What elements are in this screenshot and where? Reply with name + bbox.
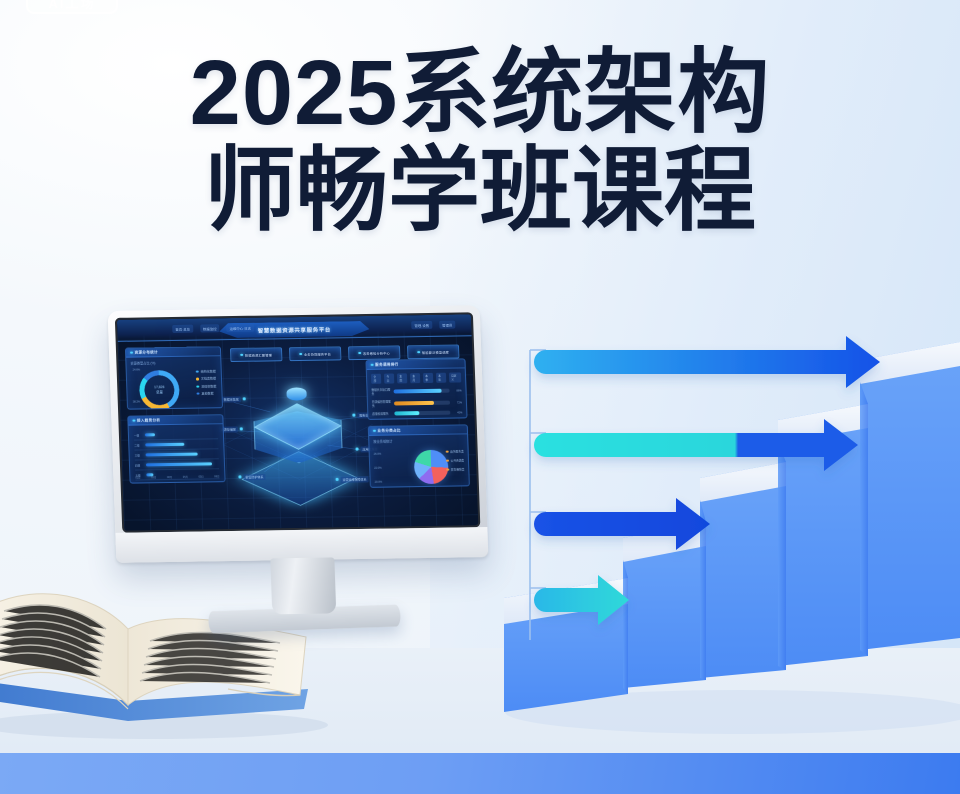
- nav-item-2[interactable]: 运维中心·日志: [226, 324, 254, 332]
- iso-node-label: 运营运维保障体系: [340, 476, 368, 482]
- bullet-icon: [240, 354, 243, 357]
- nav-settings[interactable]: 管理·设置: [411, 321, 432, 329]
- legend-item-1: 文档类数据: [196, 377, 216, 381]
- nav-admin[interactable]: 管理员: [439, 321, 455, 329]
- node-dot-icon: [240, 428, 243, 431]
- horizontal-bar-chart: 一级 二级 三级 四级 五级: [134, 429, 219, 470]
- progress-label: 质量核验服务: [372, 412, 391, 416]
- progress-label: 目录编目管理服务: [372, 400, 391, 408]
- iso-building-cap: [286, 387, 306, 400]
- legend-swatch: [446, 450, 449, 453]
- panel-dot-icon: [371, 364, 374, 367]
- legend-label: 公共资源类: [451, 458, 465, 462]
- iso-node-0: 数据采集层: [222, 396, 246, 402]
- staircase-chart: [490, 320, 960, 740]
- action-card-label: 智能算法模型调度: [422, 349, 449, 354]
- progress-track: [394, 389, 450, 394]
- progress-track: [394, 401, 450, 406]
- panel-title: 服务调用排行: [375, 362, 399, 367]
- action-card-3[interactable]: 智能算法模型调度: [407, 344, 459, 359]
- bar-label: 三级: [135, 453, 143, 457]
- desktop-monitor: 智慧数据资源共享服务平台 首页·总览 数据监控 运维中心·日志 管理·设置 管理…: [108, 305, 489, 563]
- dashboard: 智慧数据资源共享服务平台 首页·总览 数据监控 运维中心·日志 管理·设置 管理…: [117, 314, 478, 530]
- action-card-label: 业务协同服务平台: [304, 351, 331, 356]
- x-tick: 04月: [183, 475, 188, 479]
- panel-title: 业务分类占比: [377, 428, 401, 433]
- iso-node-label: 安全防护体系: [243, 474, 265, 480]
- panel-subtitle: 资源类型占比 (%): [126, 356, 220, 366]
- legend-swatch: [197, 392, 200, 395]
- x-tick: 06月: [214, 474, 219, 478]
- legend-label: 流媒体数据: [201, 384, 216, 388]
- donut-center: 17,826 总量: [139, 370, 180, 410]
- bullet-icon: [299, 353, 302, 356]
- progress-label: 数据共享接口服务: [371, 388, 390, 396]
- legend-swatch: [197, 385, 200, 388]
- bar-label: 一级: [134, 433, 142, 437]
- x-tick: 03月: [167, 475, 172, 479]
- panel-dot-icon: [373, 430, 376, 433]
- dashboard-nav-left[interactable]: 首页·总览 数据监控 运维中心·日志: [172, 324, 254, 333]
- panel-dot-icon: [132, 419, 135, 422]
- legend-swatch: [196, 378, 199, 381]
- bar-fill: [146, 462, 212, 466]
- panel-subtitle: 按业务域统计: [369, 434, 467, 445]
- staircase-svg: [490, 320, 960, 740]
- x-tick: 02月: [151, 475, 156, 479]
- panel-service-ranking: 服务调用排行 全部 今日 本周 本月 本季 本年 自定义 数据共享接口服务: [365, 358, 467, 420]
- node-dot-icon: [238, 476, 241, 479]
- iso-node-4: 安全防护体系: [238, 474, 265, 480]
- legend-label: 结构化数据: [201, 369, 216, 373]
- progress-fill: [394, 389, 442, 394]
- bar-label: 四级: [135, 463, 143, 467]
- page-title: 2025系统架构 师畅学班课程: [0, 44, 960, 240]
- iso-node-5: 运营运维保障体系: [335, 476, 368, 483]
- title-line-2: 师畅学班课程: [0, 142, 960, 240]
- step-5: [860, 342, 960, 650]
- node-dot-icon: [243, 398, 246, 401]
- progress-fill: [394, 401, 434, 406]
- monitor-neck: [270, 557, 336, 614]
- progress-fill: [394, 411, 419, 415]
- panel-access-trend: 接入趋势分析 一级 二级 三级 四级 五级 01月 02月 03月 04月: [127, 414, 225, 483]
- nav-item-1[interactable]: 数据监控: [200, 324, 220, 332]
- chip-year[interactable]: 本年: [436, 373, 446, 383]
- pie-tick-0: 26.0%: [374, 453, 381, 456]
- pie-legend-item-2: 民生保障类: [446, 467, 464, 471]
- title-line-1: 2025系统架构: [0, 44, 960, 142]
- chip-today[interactable]: 今日: [384, 373, 394, 383]
- arrow-1: [534, 336, 880, 388]
- step-3: [700, 442, 786, 678]
- legend-label: 文档类数据: [201, 377, 216, 381]
- node-dot-icon: [352, 414, 355, 417]
- pie-chart: [414, 450, 449, 485]
- time-range-chips[interactable]: 全部 今日 本周 本月 本季 本年 自定义: [367, 368, 466, 386]
- progress-value: 45%: [453, 411, 462, 414]
- legend-swatch: [196, 370, 199, 373]
- chip-week[interactable]: 本周: [397, 373, 407, 383]
- legend-label: 其他数据: [201, 392, 213, 396]
- monitor-screen[interactable]: 智慧数据资源共享服务平台 首页·总览 数据监控 运维中心·日志 管理·设置 管理…: [115, 312, 481, 532]
- chip-all[interactable]: 全部: [371, 374, 381, 384]
- arrow-3: [534, 498, 710, 550]
- watermark-label: AI工场: [48, 0, 95, 12]
- chip-month[interactable]: 本月: [410, 373, 420, 383]
- step-1: [504, 560, 628, 712]
- chip-custom[interactable]: 自定义: [449, 372, 462, 382]
- bar-fill: [145, 443, 184, 447]
- panel-title: 接入趋势分析: [137, 418, 161, 423]
- pie-legend-item-0: 政务服务类: [446, 449, 464, 453]
- step-4: [778, 382, 868, 666]
- action-card-label: 态势感知分析中心: [363, 350, 390, 355]
- donut-legend: 结构化数据 文档类数据 流媒体数据 其他数据: [196, 369, 216, 395]
- legend-swatch: [446, 459, 449, 462]
- pie-legend-item-1: 公共资源类: [446, 458, 464, 462]
- bullet-icon: [417, 351, 420, 354]
- leader-ticks: [530, 350, 546, 588]
- node-dot-icon: [336, 478, 339, 481]
- isometric-architecture-graphic: 数据采集层 资源存储层 服务接口层 应用支撑层 安全防护体系: [220, 358, 375, 495]
- bullet-icon: [358, 352, 361, 355]
- panel-dot-icon: [130, 351, 133, 354]
- donut-center-label: 总量: [156, 390, 163, 395]
- chip-quarter[interactable]: 本季: [423, 373, 433, 383]
- pie-legend: 政务服务类 公共资源类 民生保障类: [446, 449, 465, 471]
- node-dot-icon: [356, 448, 359, 451]
- panel-business-category: 业务分类占比 按业务域统计 26.0% 22.0% 20.0% 政务服务类 公共…: [368, 424, 470, 488]
- bar-label: 二级: [134, 443, 142, 447]
- watermark-badge: AI工场: [26, 0, 118, 14]
- bar-fill: [146, 453, 198, 457]
- progress-value: 86%: [453, 389, 462, 392]
- nav-item-0[interactable]: 首页·总览: [172, 325, 193, 333]
- panel-title: 资源分布统计: [134, 350, 158, 355]
- action-card-label: 数据资源汇聚管理: [245, 352, 272, 357]
- pie-tick-2: 20.0%: [375, 481, 382, 484]
- monitor-bezel: 智慧数据资源共享服务平台 首页·总览 数据监控 运维中心·日志 管理·设置 管理…: [108, 305, 489, 563]
- bar-fill: [145, 433, 155, 436]
- legend-swatch: [446, 468, 449, 471]
- progress-track: [394, 411, 450, 416]
- x-tick: 01月: [135, 475, 140, 479]
- x-tick: 05月: [198, 474, 203, 478]
- legend-label: 民生保障类: [451, 467, 465, 471]
- dashboard-nav-right[interactable]: 管理·设置 管理员: [411, 321, 455, 330]
- panel-header: 接入趋势分析: [128, 415, 222, 425]
- legend-label: 政务服务类: [450, 449, 464, 453]
- donut-chart: 17,826 总量: [139, 370, 180, 410]
- legend-item-2: 流媒体数据: [197, 384, 217, 388]
- pie-tick-1: 22.0%: [374, 467, 381, 470]
- panel-resource-distribution: 资源分布统计 资源类型占比 (%) 24.6% 38.2% 17,826 总量 …: [125, 346, 223, 409]
- iso-node-label: 数据采集层: [222, 396, 241, 402]
- legend-item-0: 结构化数据: [196, 369, 216, 373]
- legend-item-3: 其他数据: [197, 391, 217, 395]
- progress-value: 72%: [453, 401, 462, 404]
- bottom-color-band: [0, 753, 960, 794]
